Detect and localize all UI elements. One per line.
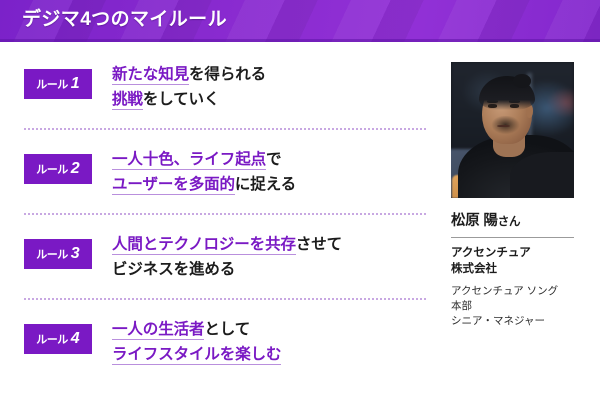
rule-badge-1: ルール 1	[24, 69, 92, 99]
rule-badge-number: 4	[69, 331, 80, 347]
rule-line: 人間とテクノロジーを共存させて	[112, 232, 342, 257]
rule-line: 一人十色、ライフ起点で	[112, 147, 296, 172]
rule-divider	[24, 298, 426, 300]
rule-text-1: 新たな知見を得られる 挑戦をしていく	[112, 62, 266, 112]
profile-company: アクセンチュア 株式会社	[451, 245, 574, 278]
profile-role-line: 本部	[451, 299, 574, 314]
rule-line: 挑戦をしていく	[112, 87, 266, 112]
rule-badge-3: ルール 3	[24, 239, 92, 269]
rule-divider	[24, 213, 426, 215]
rule-item-4: ルール 4 一人の生活者として ライフスタイルを楽しむ	[24, 317, 428, 367]
rule-highlight: 人間とテクノロジーを共存	[112, 236, 296, 255]
rule-plain: を得られる	[189, 66, 266, 83]
rule-plain: として	[204, 321, 250, 338]
rule-line: 一人の生活者として	[112, 317, 281, 342]
rule-highlight: ライフスタイルを楽しむ	[112, 346, 281, 365]
rule-text-3: 人間とテクノロジーを共存させて ビジネスを進める	[112, 232, 342, 282]
rule-line: ユーザーを多面的に捉える	[112, 172, 296, 197]
rule-text-4: 一人の生活者として ライフスタイルを楽しむ	[112, 317, 281, 367]
rule-plain: ビジネスを進める	[112, 261, 235, 278]
rule-badge-number: 1	[69, 76, 80, 92]
profile-panel: 松原 陽さん アクセンチュア 株式会社 アクセンチュア ソング 本部 シニア・マ…	[451, 62, 574, 329]
rule-divider	[24, 128, 426, 130]
page-title: デジマ4つのマイルール	[22, 0, 227, 40]
rule-badge-2: ルール 2	[24, 154, 92, 184]
rule-line: ビジネスを進める	[112, 257, 342, 282]
rule-plain: させて	[296, 236, 342, 253]
header-band: デジマ4つのマイルール	[0, 0, 600, 42]
photo-hair-bun	[513, 74, 531, 88]
rule-badge-4: ルール 4	[24, 324, 92, 354]
profile-divider	[451, 237, 574, 238]
rule-text-2: 一人十色、ライフ起点で ユーザーを多面的に捉える	[112, 147, 296, 197]
profile-name-text: 松原 陽	[451, 213, 498, 229]
profile-role: アクセンチュア ソング 本部 シニア・マネジャー	[451, 284, 574, 330]
rule-plain: をしていく	[143, 91, 220, 108]
rules-list: ルール 1 新たな知見を得られる 挑戦をしていく ルール 2 一人十色、ライフ起…	[0, 42, 440, 400]
infographic-card: デジマ4つのマイルール ルール 1 新たな知見を得られる 挑戦をしていく ルール…	[0, 0, 600, 400]
rule-item-1: ルール 1 新たな知見を得られる 挑戦をしていく	[24, 62, 428, 112]
rule-item-3: ルール 3 人間とテクノロジーを共存させて ビジネスを進める	[24, 232, 428, 282]
profile-role-line: シニア・マネジャー	[451, 314, 574, 329]
rule-badge-label: ルール	[36, 331, 68, 347]
rule-highlight: ユーザーを多面的	[112, 176, 235, 195]
rule-highlight: 一人十色、ライフ起点	[112, 151, 266, 170]
photo-beard	[489, 116, 522, 138]
rule-badge-label: ルール	[36, 161, 68, 177]
profile-company-line: 株式会社	[451, 261, 574, 277]
rule-line: 新たな知見を得られる	[112, 62, 266, 87]
rule-item-2: ルール 2 一人十色、ライフ起点で ユーザーを多面的に捉える	[24, 147, 428, 197]
rule-plain: で	[266, 151, 281, 168]
rule-badge-label: ルール	[36, 246, 68, 262]
rule-badge-number: 3	[69, 246, 80, 262]
profile-name: 松原 陽さん	[451, 209, 574, 230]
rule-line: ライフスタイルを楽しむ	[112, 342, 281, 367]
portrait-photo	[451, 62, 574, 198]
rule-highlight: 新たな知見	[112, 66, 189, 85]
profile-company-line: アクセンチュア	[451, 245, 574, 261]
profile-role-line: アクセンチュア ソング	[451, 284, 574, 299]
rule-badge-label: ルール	[36, 76, 68, 92]
profile-name-suffix: さん	[498, 216, 521, 228]
rule-highlight: 一人の生活者	[112, 321, 204, 340]
rule-plain: に捉える	[235, 176, 296, 193]
rule-badge-number: 2	[69, 161, 80, 177]
rule-highlight: 挑戦	[112, 91, 143, 110]
